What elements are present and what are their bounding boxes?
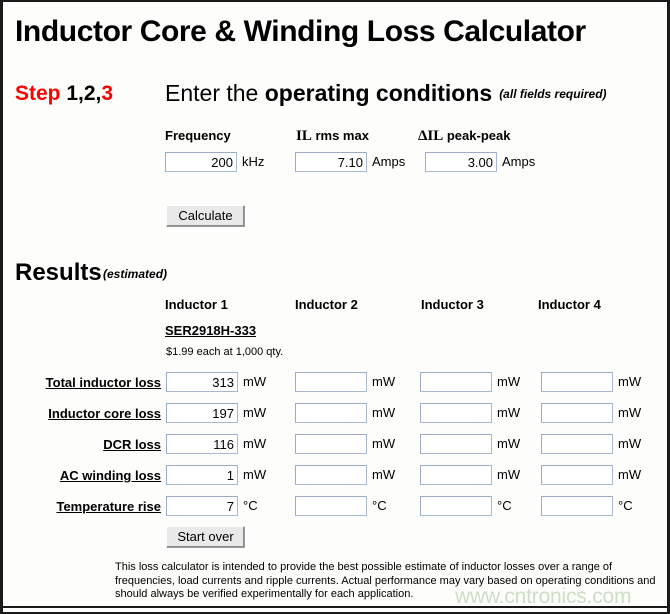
- row-label-ac-winding-loss: AC winding loss: [21, 468, 161, 483]
- unit-ac-winding-loss-1: mW: [243, 467, 266, 482]
- result-total-inductor-loss-inductor-4[interactable]: [541, 372, 613, 392]
- result-inductor-core-loss-inductor-3[interactable]: [420, 403, 492, 423]
- unit-dcr-loss-3: mW: [497, 436, 520, 451]
- unit-temperature-rise-2: °C: [372, 498, 387, 513]
- unit-ac-winding-loss-3: mW: [497, 467, 520, 482]
- result-ac-winding-loss-inductor-3[interactable]: [420, 465, 492, 485]
- unit-dcr-loss-4: mW: [618, 436, 641, 451]
- inductor-1-part-number[interactable]: SER2918H-333: [165, 323, 256, 338]
- il-rms-max-label: IL rms max: [296, 128, 369, 145]
- delta-il-symbol: ΔIL: [418, 128, 443, 144]
- result-ac-winding-loss-inductor-1[interactable]: 1: [166, 465, 238, 485]
- il-symbol: IL: [296, 128, 312, 144]
- frequency-label: Frequency: [165, 128, 231, 143]
- il-rms-max-unit: Amps: [372, 154, 405, 169]
- page-title: Inductor Core & Winding Loss Calculator: [15, 15, 586, 49]
- unit-dcr-loss-2: mW: [372, 436, 395, 451]
- instruction-light-text: Enter the: [165, 80, 265, 106]
- calculator-page: Inductor Core & Winding Loss Calculator …: [0, 0, 670, 614]
- page-inner: Inductor Core & Winding Loss Calculator …: [3, 2, 667, 612]
- step-indicator: Step 1,2,3: [15, 82, 113, 106]
- unit-dcr-loss-1: mW: [243, 436, 266, 451]
- result-dcr-loss-inductor-4[interactable]: [541, 434, 613, 454]
- step-numbers-red: 3: [101, 82, 113, 105]
- frequency-input[interactable]: 200: [165, 152, 237, 172]
- result-total-inductor-loss-inductor-1[interactable]: 313: [166, 372, 238, 392]
- row-label-inductor-core-loss: Inductor core loss: [21, 406, 161, 421]
- column-header-inductor-3: Inductor 3: [421, 297, 484, 312]
- instruction-note: (all fields required): [499, 87, 606, 101]
- result-dcr-loss-inductor-1[interactable]: 116: [166, 434, 238, 454]
- unit-temperature-rise-4: °C: [618, 498, 633, 513]
- calculate-button[interactable]: Calculate: [166, 205, 245, 227]
- start-over-button[interactable]: Start over: [166, 526, 245, 548]
- unit-total-inductor-loss-1: mW: [243, 374, 266, 389]
- result-temperature-rise-inductor-4[interactable]: [541, 496, 613, 516]
- step-numbers-black: 1,2,: [61, 82, 102, 105]
- unit-inductor-core-loss-2: mW: [372, 405, 395, 420]
- row-label-total-inductor-loss: Total inductor loss: [21, 375, 161, 390]
- inductor-1-price: $1.99 each at 1,000 qty.: [166, 346, 283, 358]
- unit-inductor-core-loss-3: mW: [497, 405, 520, 420]
- delta-il-peak-peak-input[interactable]: 3.00: [425, 152, 497, 172]
- frequency-unit: kHz: [242, 154, 264, 169]
- instruction-bold-text: operating conditions: [265, 80, 492, 106]
- row-label-dcr-loss: DCR loss: [21, 437, 161, 452]
- result-inductor-core-loss-inductor-4[interactable]: [541, 403, 613, 423]
- delta-il-peak-peak-label: ΔIL peak-peak: [418, 128, 510, 145]
- footer-divider: [3, 606, 667, 608]
- unit-ac-winding-loss-2: mW: [372, 467, 395, 482]
- delta-il-peak-peak-unit: Amps: [502, 154, 535, 169]
- result-total-inductor-loss-inductor-3[interactable]: [420, 372, 492, 392]
- il-rms-max-input[interactable]: 7.10: [295, 152, 367, 172]
- result-inductor-core-loss-inductor-1[interactable]: 197: [166, 403, 238, 423]
- column-header-inductor-1: Inductor 1: [165, 297, 228, 312]
- result-temperature-rise-inductor-1[interactable]: 7: [166, 496, 238, 516]
- result-inductor-core-loss-inductor-2[interactable]: [295, 403, 367, 423]
- result-temperature-rise-inductor-3[interactable]: [420, 496, 492, 516]
- unit-total-inductor-loss-2: mW: [372, 374, 395, 389]
- unit-ac-winding-loss-4: mW: [618, 467, 641, 482]
- result-total-inductor-loss-inductor-2[interactable]: [295, 372, 367, 392]
- unit-temperature-rise-3: °C: [497, 498, 512, 513]
- result-temperature-rise-inductor-2[interactable]: [295, 496, 367, 516]
- result-ac-winding-loss-inductor-2[interactable]: [295, 465, 367, 485]
- instruction-line: Enter the operating conditions(all field…: [165, 80, 607, 107]
- column-header-inductor-4: Inductor 4: [538, 297, 601, 312]
- column-header-inductor-2: Inductor 2: [295, 297, 358, 312]
- unit-total-inductor-loss-4: mW: [618, 374, 641, 389]
- results-heading-note: (estimated): [103, 267, 167, 281]
- result-dcr-loss-inductor-2[interactable]: [295, 434, 367, 454]
- il-label-rest: rms max: [312, 128, 369, 143]
- unit-inductor-core-loss-4: mW: [618, 405, 641, 420]
- row-label-temperature-rise: Temperature rise: [21, 499, 161, 514]
- result-ac-winding-loss-inductor-4[interactable]: [541, 465, 613, 485]
- results-heading: Results: [15, 259, 102, 287]
- delta-il-label-rest: peak-peak: [443, 128, 510, 143]
- disclaimer-text: This loss calculator is intended to prov…: [115, 561, 657, 602]
- unit-total-inductor-loss-3: mW: [497, 374, 520, 389]
- unit-temperature-rise-1: °C: [243, 498, 258, 513]
- unit-inductor-core-loss-1: mW: [243, 405, 266, 420]
- result-dcr-loss-inductor-3[interactable]: [420, 434, 492, 454]
- step-label: Step: [15, 82, 61, 105]
